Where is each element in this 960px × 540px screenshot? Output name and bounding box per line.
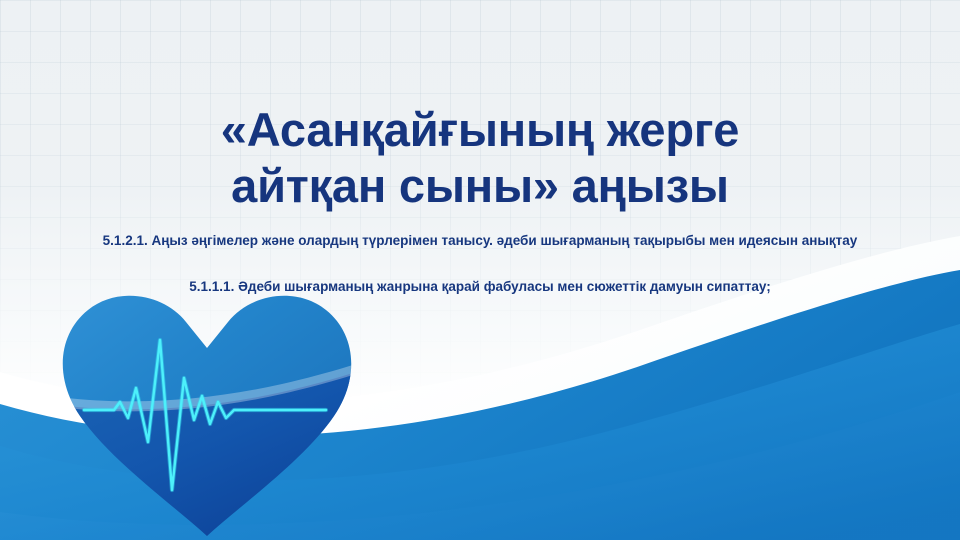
learning-objective-2: 5.1.1.1. Әдеби шығарманың жанрына қарай …: [88, 277, 872, 296]
slide-text-layer: «Асанқайғының жерге айтқан сыны» аңызы 5…: [0, 0, 960, 540]
learning-objective-1: 5.1.2.1. Аңыз әңгімелер және олардың түр…: [88, 231, 872, 250]
page-title: «Асанқайғының жерге айтқан сыны» аңызы: [80, 102, 880, 214]
presentation-slide: «Асанқайғының жерге айтқан сыны» аңызы 5…: [0, 0, 960, 540]
